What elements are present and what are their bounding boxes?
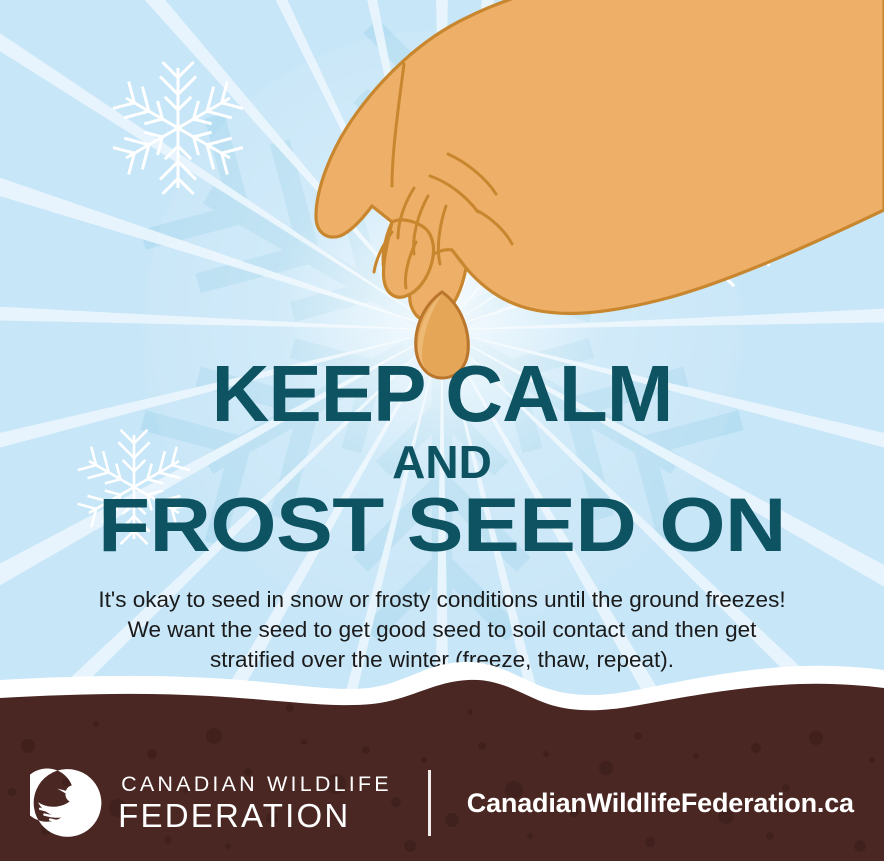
cwf-logo-wordmark: CANADIAN WILDLIFE FEDERATION xyxy=(118,774,392,832)
body-copy-line-2: We want the seed to get good seed to soi… xyxy=(0,615,884,645)
cwf-logo-line-2: FEDERATION xyxy=(118,799,392,832)
cwf-logo-line-1: CANADIAN WILDLIFE xyxy=(118,774,392,796)
headline-line-keep-calm: KEEP CALM xyxy=(0,356,884,432)
poster-canvas: KEEP CALM AND FROST SEED ON It's okay to… xyxy=(0,0,884,861)
headline-block: KEEP CALM AND FROST SEED ON xyxy=(0,356,884,564)
headline-line-and: AND xyxy=(0,438,884,486)
cwf-goose-logo-icon xyxy=(30,767,102,839)
body-copy-line-1: It's okay to seed in snow or frosty cond… xyxy=(0,585,884,615)
footer-divider xyxy=(428,770,431,836)
cwf-logo[interactable]: CANADIAN WILDLIFE FEDERATION xyxy=(30,767,392,839)
footer-website-url[interactable]: CanadianWildlifeFederation.ca xyxy=(467,788,854,819)
headline-line-frost-seed-on: FROST SEED ON xyxy=(0,488,884,564)
footer-bar: CANADIAN WILDLIFE FEDERATION CanadianWil… xyxy=(0,745,884,861)
